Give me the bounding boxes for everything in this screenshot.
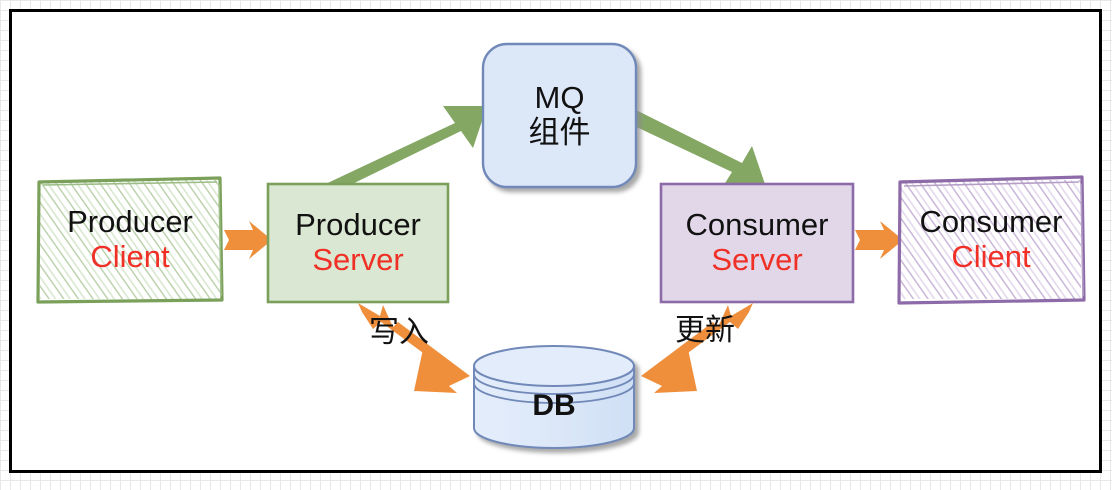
mq-component-line1: MQ [535,81,585,116]
database-label: DB [532,389,575,423]
producer-server-line2: Server [312,243,403,278]
node-consumer-server[interactable]: Consumer Server [661,184,853,302]
node-consumer-client[interactable]: Consumer Client [899,178,1083,302]
producer-server-line1: Producer [295,208,421,243]
edge-label-update: 更新 [675,305,735,349]
arrow-mq-to-consumer-server [628,110,766,188]
arrow-consumer-server-to-client [855,221,903,259]
node-database[interactable]: DB [474,366,634,446]
consumer-server-line2: Server [711,243,802,278]
mq-component-line2: 组件 [529,116,591,151]
edge-label-write: 写入 [369,307,429,351]
consumer-server-line1: Consumer [686,208,829,243]
diagram-canvas: Producer Client Producer Server MQ 组件 Co… [0,0,1112,490]
consumer-client-line1: Consumer [920,205,1063,240]
consumer-client-line2: Client [951,240,1030,275]
arrow-producer-client-to-server [224,221,272,259]
producer-client-line2: Client [90,240,169,275]
producer-client-line1: Producer [67,205,193,240]
node-producer-client[interactable]: Producer Client [38,178,222,302]
node-producer-server[interactable]: Producer Server [268,184,448,302]
node-mq-component[interactable]: MQ 组件 [483,44,636,187]
